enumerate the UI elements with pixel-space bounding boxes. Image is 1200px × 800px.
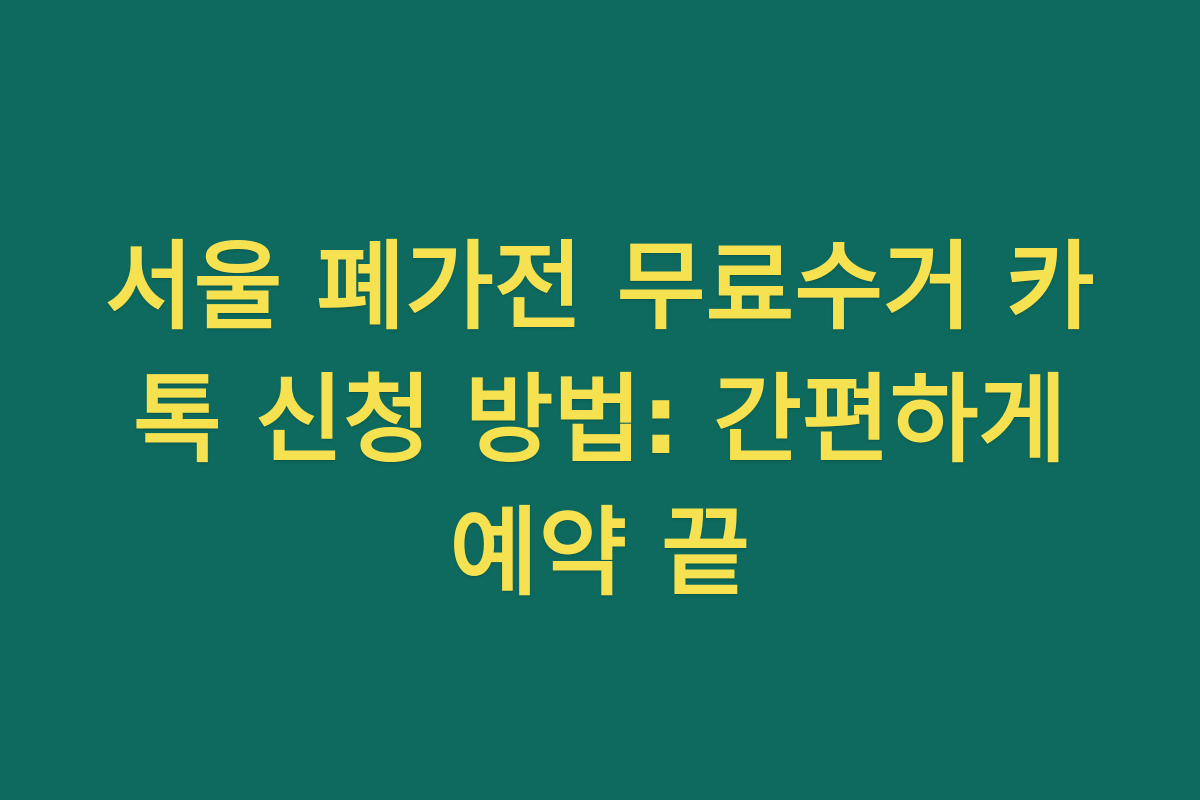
headline-block: 서울 폐가전 무료수거 카 톡 신청 방법: 간편하게 예약 끝 <box>70 221 1130 620</box>
headline-line-2: 톡 신청 방법: 간편하게 <box>70 354 1130 487</box>
headline-line-1: 서울 폐가전 무료수거 카 <box>70 221 1130 354</box>
thumbnail-canvas: 서울 폐가전 무료수거 카 톡 신청 방법: 간편하게 예약 끝 <box>0 0 1200 800</box>
headline-line-3: 예약 끝 <box>70 487 1130 620</box>
